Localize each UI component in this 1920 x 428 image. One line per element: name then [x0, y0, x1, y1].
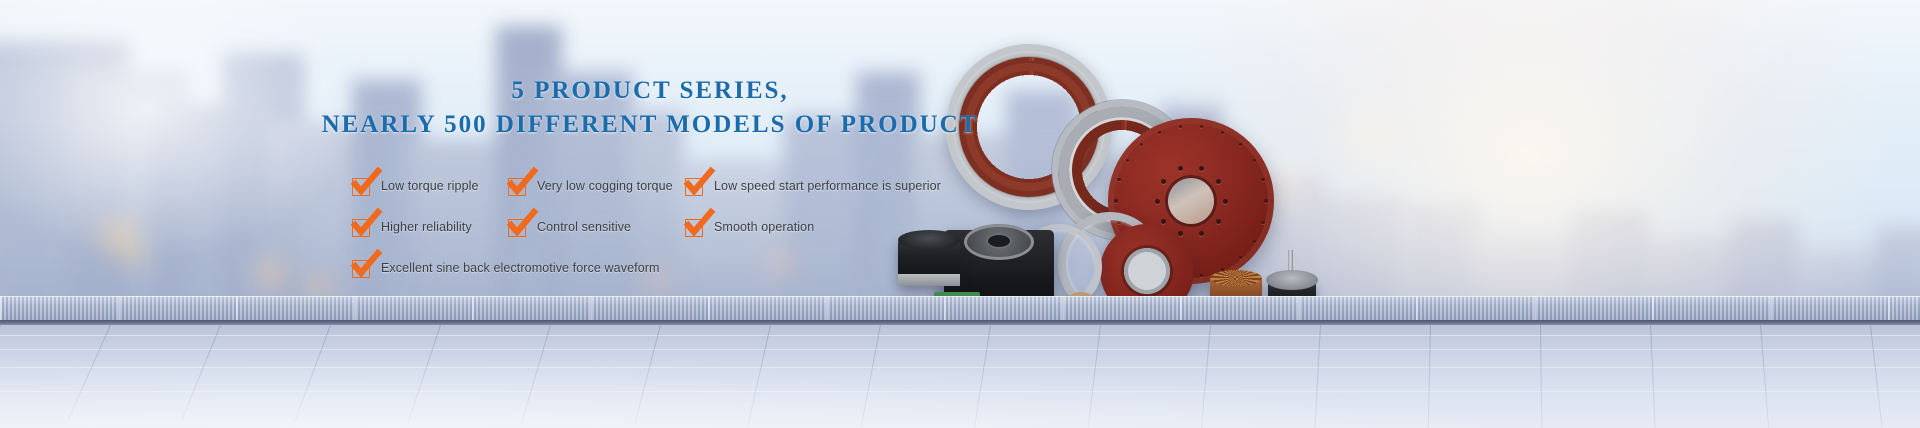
motor-hub	[986, 233, 1012, 249]
copper-coil-windings	[1210, 270, 1262, 286]
feature-list: Low torque rippleVery low cogging torque…	[352, 176, 952, 299]
stone-parapet	[0, 296, 1920, 322]
check-mark-icon[interactable]	[508, 176, 527, 195]
product-banner: 5 PRODUCT SERIES, NEARLY 500 DIFFERENT M…	[0, 0, 1920, 428]
feature-item[interactable]: Higher reliability	[352, 217, 472, 236]
feature-label: Low torque ripple	[381, 179, 479, 193]
parapet-joints	[0, 296, 1920, 322]
product-group-image	[890, 48, 1310, 323]
check-mark-icon[interactable]	[685, 176, 704, 195]
feature-item[interactable]: Excellent sine back electromotive force …	[352, 258, 660, 277]
feature-label: Very low cogging torque	[537, 179, 673, 193]
feature-item[interactable]: Low torque ripple	[352, 176, 479, 195]
feature-label: Smooth operation	[714, 220, 814, 234]
feature-row: Excellent sine back electromotive force …	[352, 258, 952, 299]
check-mark-icon[interactable]	[352, 258, 371, 277]
plaza-light-sheen	[0, 325, 1920, 428]
feature-row: Higher reliabilityControl sensitiveSmoot…	[352, 217, 952, 258]
feature-label: Excellent sine back electromotive force …	[381, 261, 660, 275]
feature-item[interactable]: Smooth operation	[685, 217, 814, 236]
feature-item[interactable]: Control sensitive	[508, 217, 631, 236]
feature-label: Control sensitive	[537, 220, 631, 234]
feature-label: Higher reliability	[381, 220, 472, 234]
check-mark-icon[interactable]	[352, 217, 371, 236]
stone-plaza-floor	[0, 325, 1920, 428]
check-mark-icon[interactable]	[685, 217, 704, 236]
sun-glow-left	[0, 0, 360, 260]
feature-item[interactable]: Very low cogging torque	[508, 176, 673, 195]
feature-label: Low speed start performance is superior	[714, 179, 941, 193]
right-small-motor-top	[1266, 270, 1318, 290]
check-mark-icon[interactable]	[352, 176, 371, 195]
check-mark-icon[interactable]	[508, 217, 527, 236]
feature-item[interactable]: Low speed start performance is superior	[685, 176, 941, 195]
feature-row: Low torque rippleVery low cogging torque…	[352, 176, 952, 217]
